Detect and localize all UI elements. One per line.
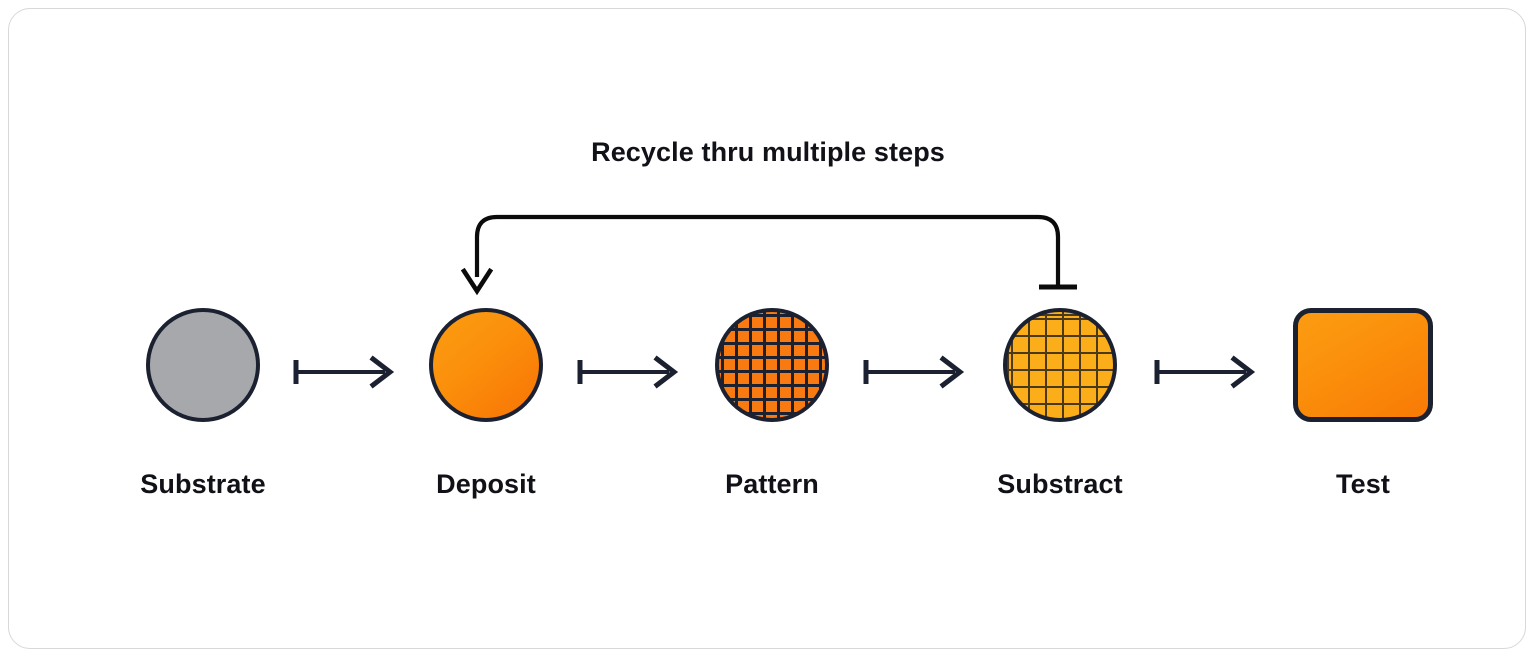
stage-row: Substrate Deposit Pattern Substract Test [9,303,1526,513]
stage-deposit[interactable]: Deposit [386,303,586,500]
stage-substrate[interactable]: Substrate [103,303,303,500]
recycle-arrow-head [464,271,490,291]
stage-substrate-shape-wrap [103,303,303,427]
stage-substrate-label: Substrate [103,469,303,500]
stage-test[interactable]: Test [1263,303,1463,500]
stage-substract-label: Substract [960,469,1160,500]
stage-test-label: Test [1263,469,1463,500]
stage-deposit-label: Deposit [386,469,586,500]
substract-wafer-grid-icon [1003,308,1117,422]
deposit-wafer-icon [429,308,543,422]
stage-pattern[interactable]: Pattern [672,303,872,500]
stage-substract[interactable]: Substract [960,303,1160,500]
test-chip-icon [1293,308,1433,422]
substrate-wafer-icon [146,308,260,422]
stage-pattern-shape-wrap [672,303,872,427]
stage-deposit-shape-wrap [386,303,586,427]
process-flow-diagram-card: Recycle thru multiple steps [8,8,1526,649]
stage-pattern-label: Pattern [672,469,872,500]
recycle-loop-title: Recycle thru multiple steps [9,137,1526,168]
pattern-wafer-grid-icon [715,308,829,422]
recycle-arrow-path [477,217,1058,287]
stage-test-shape-wrap [1263,303,1463,427]
stage-substract-shape-wrap [960,303,1160,427]
